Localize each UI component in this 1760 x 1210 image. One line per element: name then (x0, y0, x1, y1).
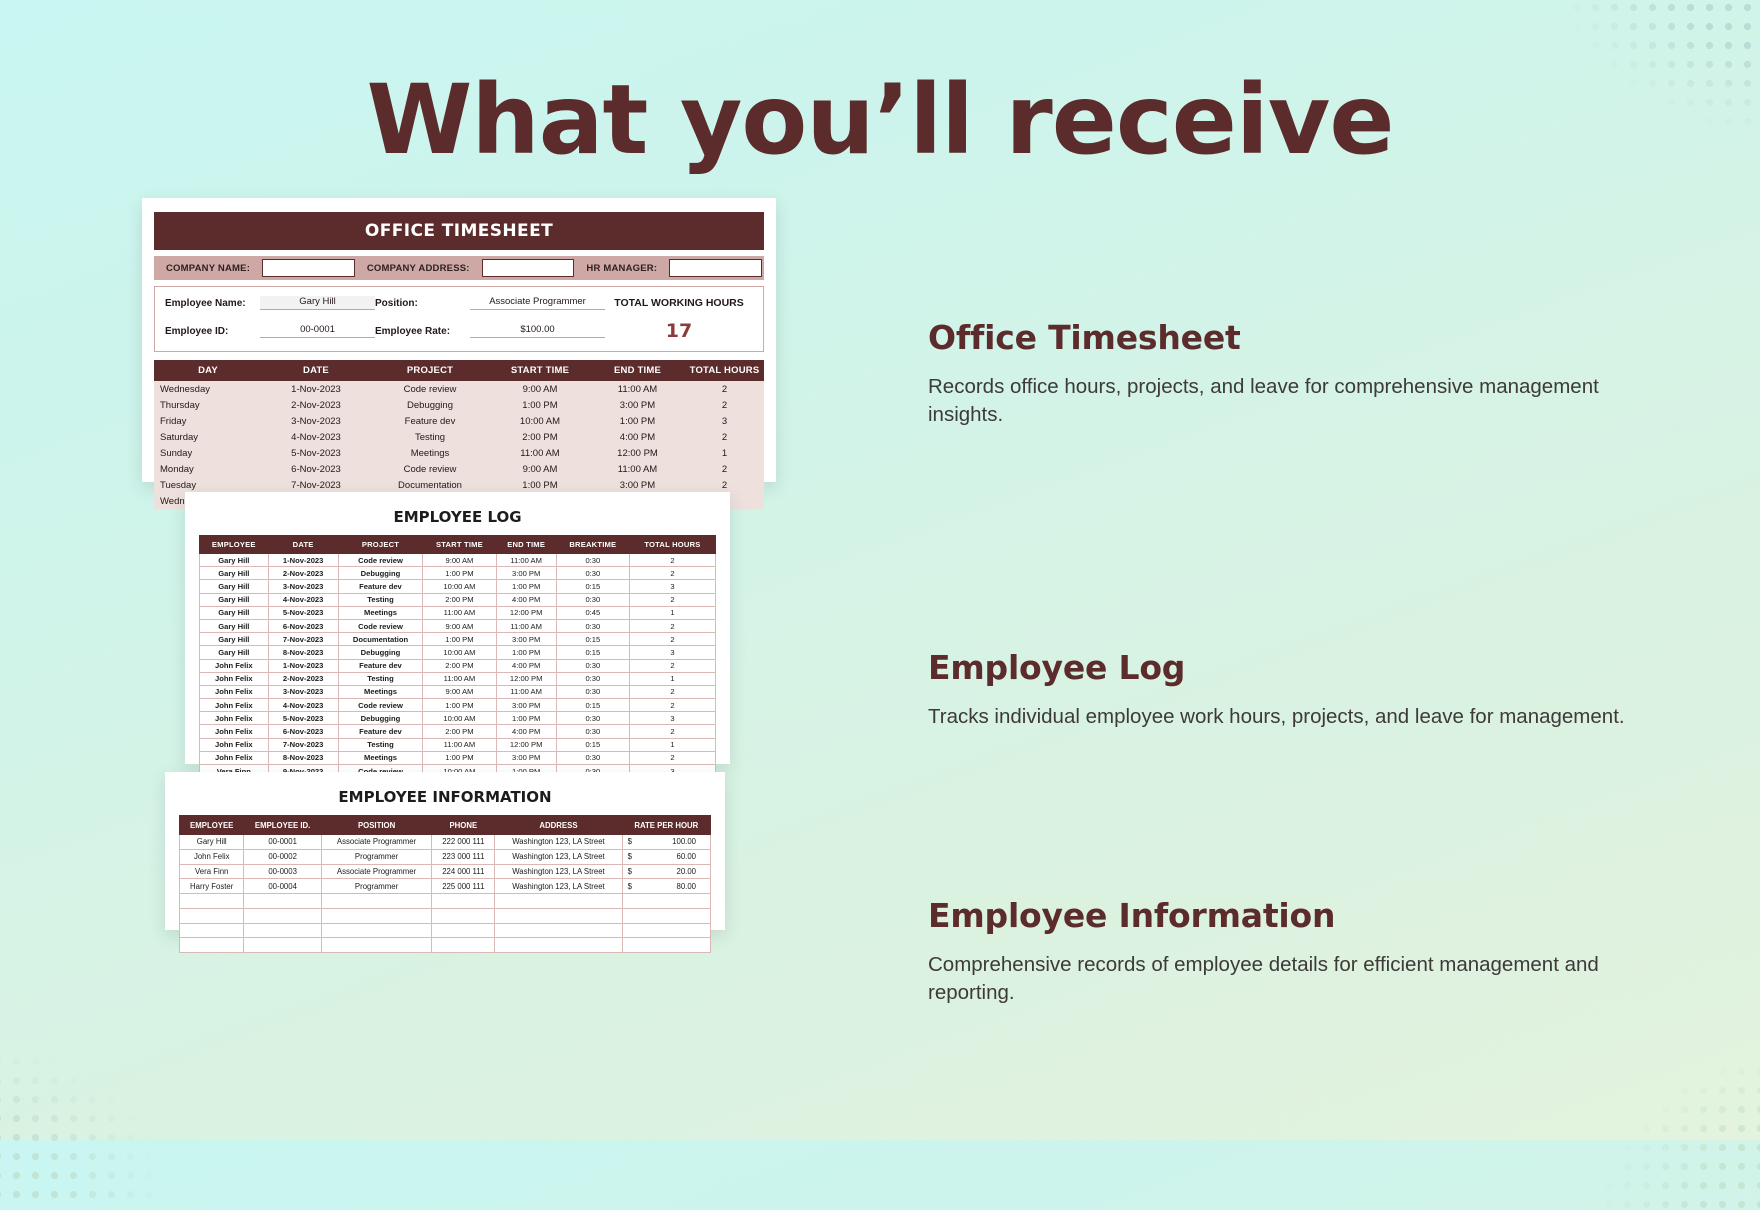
table-cell (321, 908, 431, 923)
table-row-empty[interactable] (180, 908, 711, 923)
table-cell: 2-Nov-2023 (262, 397, 370, 413)
table-cell: 00-0004 (244, 879, 321, 894)
table-cell: 2 (629, 633, 715, 646)
table-cell: 0:30 (556, 567, 629, 580)
table-cell: John Felix (200, 712, 269, 725)
employee-name-value[interactable]: Gary Hill (260, 296, 375, 310)
table-cell (180, 938, 244, 953)
table-cell: Tuesday (154, 477, 262, 493)
table-cell: Feature dev (338, 725, 423, 738)
table-cell: 10:00 AM (423, 646, 496, 659)
total-working-hours-label: TOTAL WORKING HOURS (605, 297, 753, 309)
table-cell: 3-Nov-2023 (268, 685, 338, 698)
employee-information-column-header: RATE PER HOUR (622, 816, 710, 835)
table-cell: 0:30 (556, 685, 629, 698)
table-cell: 1:00 PM (423, 633, 496, 646)
table-cell: 1:00 PM (423, 567, 496, 580)
table-cell: 3:00 PM (590, 477, 685, 493)
employee-log-header-row: EMPLOYEEDATEPROJECTSTART TIMEEND TIMEBRE… (200, 536, 716, 554)
table-cell: 1:00 PM (423, 751, 496, 764)
table-cell: Meetings (338, 606, 423, 619)
table-cell: Documentation (338, 633, 423, 646)
table-cell: 2 (629, 685, 715, 698)
employee-rate-label: Employee Rate: (375, 326, 470, 337)
table-cell: 2:00 PM (423, 593, 496, 606)
employee-id-value[interactable]: 00-0001 (260, 324, 375, 338)
feature-title: Employee Log (928, 648, 1625, 687)
table-cell: 2 (629, 554, 715, 567)
table-cell: 12:00 PM (496, 738, 556, 751)
table-cell: 2-Nov-2023 (268, 567, 338, 580)
table-cell: Feature dev (338, 580, 423, 593)
table-cell: 0:15 (556, 646, 629, 659)
table-cell: 222 000 111 (432, 835, 495, 850)
table-cell: 11:00 AM (490, 445, 590, 461)
position-value[interactable]: Associate Programmer (470, 296, 605, 310)
company-address-input[interactable] (482, 259, 575, 277)
timesheet-column-header: TOTAL HOURS (685, 360, 764, 381)
table-row-empty[interactable] (180, 894, 711, 909)
table-row[interactable]: Thursday2-Nov-2023Debugging1:00 PM3:00 P… (154, 397, 764, 413)
table-cell: 2 (685, 461, 764, 477)
table-cell: 0:45 (556, 606, 629, 619)
table-cell: 12:00 PM (496, 606, 556, 619)
table-cell: $20.00 (622, 864, 710, 879)
table-cell: 3 (629, 580, 715, 593)
table-cell (495, 908, 622, 923)
table-row[interactable]: John Felix4-Nov-2023Code review1:00 PM3:… (200, 699, 716, 712)
table-cell: 1:00 PM (490, 397, 590, 413)
table-cell: 8-Nov-2023 (268, 751, 338, 764)
table-cell (321, 938, 431, 953)
table-cell: 3-Nov-2023 (262, 413, 370, 429)
table-cell: 10:00 AM (423, 712, 496, 725)
table-cell: Gary Hill (200, 554, 269, 567)
employee-log-column-header: END TIME (496, 536, 556, 554)
timesheet-column-header: DATE (262, 360, 370, 381)
table-cell: 2:00 PM (423, 725, 496, 738)
timesheet-meta-bar: COMPANY NAME: COMPANY ADDRESS: HR MANAGE… (154, 256, 764, 280)
table-cell (432, 923, 495, 938)
table-cell: Harry Foster (180, 879, 244, 894)
table-row[interactable]: John Felix00-0002Programmer223 000 111Wa… (180, 849, 711, 864)
currency-symbol: $ (628, 867, 632, 876)
table-cell: 11:00 AM (496, 554, 556, 567)
table-cell: 2 (685, 397, 764, 413)
table-cell: 0:30 (556, 659, 629, 672)
table-cell: 11:00 AM (423, 738, 496, 751)
table-cell: 9:00 AM (423, 554, 496, 567)
table-cell: 1:00 PM (496, 580, 556, 593)
currency-symbol: $ (628, 882, 632, 891)
table-row-empty[interactable] (180, 938, 711, 953)
table-cell: Associate Programmer (321, 864, 431, 879)
table-cell: 4:00 PM (496, 659, 556, 672)
table-cell: 0:15 (556, 580, 629, 593)
table-cell: Meetings (370, 445, 490, 461)
table-cell: Vera Finn (180, 864, 244, 879)
table-cell: Thursday (154, 397, 262, 413)
table-cell: Meetings (338, 751, 423, 764)
table-cell: 9:00 AM (423, 685, 496, 698)
table-cell: Code review (338, 699, 423, 712)
table-cell: 8-Nov-2023 (268, 646, 338, 659)
table-cell: 3:00 PM (496, 633, 556, 646)
table-cell: 225 000 111 (432, 879, 495, 894)
table-cell: 10:00 AM (423, 580, 496, 593)
table-cell: 7-Nov-2023 (268, 633, 338, 646)
table-cell: Washington 123, LA Street (495, 849, 622, 864)
employee-information-column-header: PHONE (432, 816, 495, 835)
table-cell: 9:00 AM (490, 381, 590, 397)
table-row[interactable]: Gary Hill2-Nov-2023Debugging1:00 PM3:00 … (200, 567, 716, 580)
timesheet-column-header: DAY (154, 360, 262, 381)
table-cell: 2 (629, 567, 715, 580)
employee-log-column-header: EMPLOYEE (200, 536, 269, 554)
table-cell: 5-Nov-2023 (262, 445, 370, 461)
table-row[interactable]: Gary Hill00-0001Associate Programmer222 … (180, 835, 711, 850)
table-cell: Gary Hill (200, 606, 269, 619)
table-row[interactable]: Friday3-Nov-2023Feature dev10:00 AM1:00 … (154, 413, 764, 429)
table-cell: 1 (629, 672, 715, 685)
table-cell: 0:30 (556, 619, 629, 632)
table-cell (622, 908, 710, 923)
table-cell (622, 938, 710, 953)
table-cell (321, 923, 431, 938)
table-cell: 6-Nov-2023 (268, 725, 338, 738)
currency-symbol: $ (628, 852, 632, 861)
table-cell: Washington 123, LA Street (495, 864, 622, 879)
table-cell: 7-Nov-2023 (268, 738, 338, 751)
table-cell: 3:00 PM (590, 397, 685, 413)
employee-name-label: Employee Name: (165, 298, 260, 309)
table-cell: 00-0001 (244, 835, 321, 850)
table-cell: John Felix (200, 685, 269, 698)
table-cell: 10:00 AM (490, 413, 590, 429)
table-cell: 0:15 (556, 699, 629, 712)
table-cell: 224 000 111 (432, 864, 495, 879)
table-row[interactable]: Wednesday1-Nov-2023Code review9:00 AM11:… (154, 381, 764, 397)
table-cell: 3 (685, 413, 764, 429)
table-cell (180, 923, 244, 938)
employee-information-preview: EMPLOYEE INFORMATION EMPLOYEEEMPLOYEE ID… (165, 772, 725, 930)
office-timesheet-preview: OFFICE TIMESHEET COMPANY NAME: COMPANY A… (142, 198, 776, 482)
company-name-input[interactable] (262, 259, 355, 277)
table-cell: 2 (685, 477, 764, 493)
table-row[interactable]: Gary Hill5-Nov-2023Meetings11:00 AM12:00… (200, 606, 716, 619)
table-cell: Code review (370, 381, 490, 397)
table-row[interactable]: Saturday4-Nov-2023Testing2:00 PM4:00 PM2 (154, 429, 764, 445)
feature-description: Records office hours, projects, and leav… (928, 373, 1668, 428)
table-cell: Feature dev (338, 659, 423, 672)
table-cell: Code review (338, 619, 423, 632)
table-row-empty[interactable] (180, 923, 711, 938)
table-cell: Debugging (338, 646, 423, 659)
employee-log-column-header: BREAKTIME (556, 536, 629, 554)
table-cell (432, 938, 495, 953)
table-cell: 1:00 PM (496, 712, 556, 725)
table-cell: 00-0002 (244, 849, 321, 864)
hr-manager-input[interactable] (669, 259, 762, 277)
feature-title: Office Timesheet (928, 318, 1668, 357)
table-cell: Washington 123, LA Street (495, 835, 622, 850)
table-cell: 0:15 (556, 633, 629, 646)
table-cell: Saturday (154, 429, 262, 445)
table-cell: Gary Hill (200, 567, 269, 580)
table-cell: 3:00 PM (496, 699, 556, 712)
table-row[interactable]: Monday6-Nov-2023Code review9:00 AM11:00 … (154, 461, 764, 477)
table-row[interactable]: Vera Finn00-0003Associate Programmer224 … (180, 864, 711, 879)
employee-rate-value[interactable]: $100.00 (470, 324, 605, 338)
timesheet-column-header: START TIME (490, 360, 590, 381)
table-cell: 2 (629, 659, 715, 672)
table-cell: 00-0003 (244, 864, 321, 879)
table-cell: 9:00 AM (423, 619, 496, 632)
page-title: What you’ll receive (0, 72, 1760, 168)
table-cell: 3 (629, 712, 715, 725)
employee-log-column-header: PROJECT (338, 536, 423, 554)
timesheet-header-row: DAYDATEPROJECTSTART TIMEEND TIMETOTAL HO… (154, 360, 764, 381)
employee-information-column-header: EMPLOYEE ID. (244, 816, 321, 835)
company-address-label: COMPANY ADDRESS: (355, 256, 482, 280)
table-cell: Testing (338, 672, 423, 685)
table-cell (244, 923, 321, 938)
table-cell: Wednesday (154, 381, 262, 397)
employee-information-column-header: EMPLOYEE (180, 816, 244, 835)
table-cell (180, 894, 244, 909)
table-row[interactable]: Gary Hill7-Nov-2023Documentation1:00 PM3… (200, 633, 716, 646)
table-cell: Monday (154, 461, 262, 477)
table-cell: Code review (338, 554, 423, 567)
table-cell: 4-Nov-2023 (262, 429, 370, 445)
employee-log-title: EMPLOYEE LOG (199, 508, 716, 526)
table-cell: John Felix (200, 672, 269, 685)
table-cell: 9:00 AM (490, 461, 590, 477)
table-cell (244, 908, 321, 923)
table-cell: Debugging (370, 397, 490, 413)
table-row[interactable]: Harry Foster00-0004Programmer225 000 111… (180, 879, 711, 894)
table-cell: Programmer (321, 849, 431, 864)
table-cell: 11:00 AM (590, 381, 685, 397)
table-cell: 1:00 PM (496, 646, 556, 659)
table-cell: $80.00 (622, 879, 710, 894)
table-cell: 4-Nov-2023 (268, 593, 338, 606)
employee-log-column-header: TOTAL HOURS (629, 536, 715, 554)
table-cell (622, 923, 710, 938)
table-cell: 4:00 PM (496, 593, 556, 606)
feature-employee-log: Employee Log Tracks individual employee … (928, 648, 1625, 731)
table-cell (495, 938, 622, 953)
table-cell: 2 (629, 725, 715, 738)
feature-office-timesheet: Office Timesheet Records office hours, p… (928, 318, 1668, 428)
table-cell: 1-Nov-2023 (268, 659, 338, 672)
table-cell: John Felix (200, 738, 269, 751)
table-cell (495, 894, 622, 909)
table-cell: 2 (629, 699, 715, 712)
table-cell: 3-Nov-2023 (268, 580, 338, 593)
table-row[interactable]: Gary Hill6-Nov-2023Code review9:00 AM11:… (200, 619, 716, 632)
employee-information-column-header: POSITION (321, 816, 431, 835)
table-cell: Washington 123, LA Street (495, 879, 622, 894)
table-cell: 5-Nov-2023 (268, 712, 338, 725)
table-cell: Testing (338, 593, 423, 606)
table-cell: Friday (154, 413, 262, 429)
feature-description: Comprehensive records of employee detail… (928, 951, 1668, 1006)
table-cell: Gary Hill (200, 580, 269, 593)
table-cell: 6-Nov-2023 (262, 461, 370, 477)
currency-symbol: $ (628, 837, 632, 846)
table-cell: 2-Nov-2023 (268, 672, 338, 685)
table-cell (622, 894, 710, 909)
table-row[interactable]: John Felix3-Nov-2023Meetings9:00 AM11:00… (200, 685, 716, 698)
timesheet-table: DAYDATEPROJECTSTART TIMEEND TIMETOTAL HO… (154, 360, 764, 509)
table-cell: 0:30 (556, 593, 629, 606)
employee-information-column-header: ADDRESS (495, 816, 622, 835)
table-row[interactable]: John Felix8-Nov-2023Meetings1:00 PM3:00 … (200, 751, 716, 764)
hr-manager-label: HR MANAGER: (574, 256, 669, 280)
table-cell: 4:00 PM (590, 429, 685, 445)
table-cell: 1:00 PM (590, 413, 685, 429)
table-cell (495, 923, 622, 938)
table-cell: 2 (629, 751, 715, 764)
table-row[interactable]: Sunday5-Nov-2023Meetings11:00 AM12:00 PM… (154, 445, 764, 461)
table-cell: 1 (629, 606, 715, 619)
table-cell: 0:30 (556, 672, 629, 685)
timesheet-banner: OFFICE TIMESHEET (154, 212, 764, 250)
table-cell: 0:30 (556, 554, 629, 567)
table-cell: 3:00 PM (496, 751, 556, 764)
table-cell: 4:00 PM (496, 725, 556, 738)
table-cell: Debugging (338, 567, 423, 580)
table-cell: 4-Nov-2023 (268, 699, 338, 712)
table-cell: John Felix (200, 659, 269, 672)
table-cell: 1:00 PM (423, 699, 496, 712)
table-cell: 223 000 111 (432, 849, 495, 864)
table-cell: Sunday (154, 445, 262, 461)
table-cell: 2:00 PM (423, 659, 496, 672)
company-name-label: COMPANY NAME: (154, 256, 262, 280)
table-cell: John Felix (180, 849, 244, 864)
table-cell: Debugging (338, 712, 423, 725)
table-cell: Associate Programmer (321, 835, 431, 850)
table-row[interactable]: Gary Hill3-Nov-2023Feature dev10:00 AM1:… (200, 580, 716, 593)
table-cell: $100.00 (622, 835, 710, 850)
table-row[interactable]: Gary Hill4-Nov-2023Testing2:00 PM4:00 PM… (200, 593, 716, 606)
table-cell: 11:00 AM (423, 672, 496, 685)
feature-title: Employee Information (928, 896, 1668, 935)
table-cell: 0:30 (556, 751, 629, 764)
timesheet-column-header: END TIME (590, 360, 685, 381)
table-row[interactable]: John Felix2-Nov-2023Testing11:00 AM12:00… (200, 672, 716, 685)
employee-information-header-row: EMPLOYEEEMPLOYEE ID.POSITIONPHONEADDRESS… (180, 816, 711, 835)
table-cell: 0:30 (556, 712, 629, 725)
feature-employee-information: Employee Information Comprehensive recor… (928, 896, 1668, 1006)
table-cell: $60.00 (622, 849, 710, 864)
employee-id-label: Employee ID: (165, 326, 260, 337)
employee-log-column-header: START TIME (423, 536, 496, 554)
employee-information-table: EMPLOYEEEMPLOYEE ID.POSITIONPHONEADDRESS… (179, 815, 711, 953)
table-cell: Gary Hill (200, 619, 269, 632)
table-cell: 2 (629, 619, 715, 632)
table-row[interactable]: Gary Hill8-Nov-2023Debugging10:00 AM1:00… (200, 646, 716, 659)
table-cell: 1-Nov-2023 (262, 381, 370, 397)
table-cell: 11:00 AM (423, 606, 496, 619)
table-cell: Gary Hill (180, 835, 244, 850)
table-cell: 12:00 PM (590, 445, 685, 461)
table-cell (432, 908, 495, 923)
table-cell: 2 (685, 381, 764, 397)
employee-log-table: EMPLOYEEDATEPROJECTSTART TIMEEND TIMEBRE… (199, 535, 716, 805)
table-cell: 11:00 AM (496, 619, 556, 632)
table-row[interactable]: John Felix6-Nov-2023Feature dev2:00 PM4:… (200, 725, 716, 738)
table-cell: John Felix (200, 699, 269, 712)
table-cell (432, 894, 495, 909)
table-cell: 2 (629, 593, 715, 606)
timesheet-employee-info: Employee Name: Gary Hill Position: Assoc… (154, 286, 764, 352)
table-cell: 12:00 PM (496, 672, 556, 685)
table-cell: 3:00 PM (496, 567, 556, 580)
employee-log-preview: EMPLOYEE LOG EMPLOYEEDATEPROJECTSTART TI… (185, 492, 730, 764)
timesheet-column-header: PROJECT (370, 360, 490, 381)
position-label: Position: (375, 298, 470, 309)
table-cell: 6-Nov-2023 (268, 619, 338, 632)
table-row[interactable]: John Felix1-Nov-2023Feature dev2:00 PM4:… (200, 659, 716, 672)
table-cell (244, 894, 321, 909)
table-cell: 0:15 (556, 738, 629, 751)
feature-description: Tracks individual employee work hours, p… (928, 703, 1625, 731)
table-cell: 11:00 AM (590, 461, 685, 477)
employee-information-title: EMPLOYEE INFORMATION (179, 788, 711, 806)
table-cell: 1:00 PM (490, 477, 590, 493)
table-row[interactable]: Tuesday7-Nov-2023Documentation1:00 PM3:0… (154, 477, 764, 493)
table-cell: 1 (629, 738, 715, 751)
table-row[interactable]: Gary Hill1-Nov-2023Code review9:00 AM11:… (200, 554, 716, 567)
table-cell: 2:00 PM (490, 429, 590, 445)
table-row[interactable]: John Felix5-Nov-2023Debugging10:00 AM1:0… (200, 712, 716, 725)
table-cell: 5-Nov-2023 (268, 606, 338, 619)
table-cell: 3 (629, 646, 715, 659)
table-cell: Gary Hill (200, 646, 269, 659)
table-cell: Testing (338, 738, 423, 751)
table-cell: John Felix (200, 725, 269, 738)
table-cell: Gary Hill (200, 593, 269, 606)
table-cell: Testing (370, 429, 490, 445)
table-cell (321, 894, 431, 909)
table-cell: 2 (685, 429, 764, 445)
table-cell: Programmer (321, 879, 431, 894)
table-cell: John Felix (200, 751, 269, 764)
employee-log-column-header: DATE (268, 536, 338, 554)
table-cell: Meetings (338, 685, 423, 698)
table-cell: 11:00 AM (496, 685, 556, 698)
table-row[interactable]: John Felix7-Nov-2023Testing11:00 AM12:00… (200, 738, 716, 751)
table-cell: 0:30 (556, 725, 629, 738)
total-working-hours-value: 17 (605, 320, 753, 342)
table-cell: 1-Nov-2023 (268, 554, 338, 567)
table-cell: 1 (685, 445, 764, 461)
table-cell: 7-Nov-2023 (262, 477, 370, 493)
table-cell: Code review (370, 461, 490, 477)
table-cell: Feature dev (370, 413, 490, 429)
table-cell (244, 938, 321, 953)
table-cell (180, 908, 244, 923)
table-cell: Documentation (370, 477, 490, 493)
table-cell: Gary Hill (200, 633, 269, 646)
